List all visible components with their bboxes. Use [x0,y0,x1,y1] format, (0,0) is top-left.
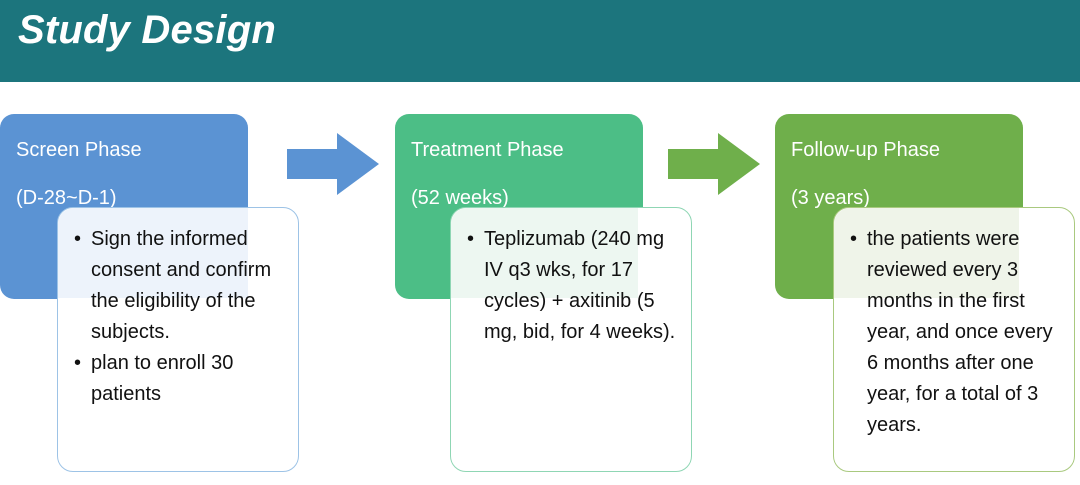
phase-title-screen: Screen Phase [16,136,248,164]
list-item: Sign the informed consent and confirm th… [72,224,284,348]
page-title: Study Design [18,4,276,56]
list-item: plan to enroll 30 patients [72,348,284,410]
bullet-list-followup: the patients were reviewed every 3 month… [848,224,1060,441]
callout-card-followup: the patients were reviewed every 3 month… [833,207,1075,472]
callout-card-screen: Sign the informed consent and confirm th… [57,207,299,472]
list-item: Teplizumab (240 mg IV q3 wks, for 17 cyc… [465,224,677,348]
bullet-list-screen: Sign the informed consent and confirm th… [72,224,284,410]
phase-title-followup: Follow-up Phase [791,136,1023,164]
arrow-right-icon-treatment-to-followup [668,133,760,195]
arrow-right-icon-screen-to-treatment [287,133,379,195]
header-banner: Study Design [0,0,1080,82]
list-item: the patients were reviewed every 3 month… [848,224,1060,441]
phase-title-treatment: Treatment Phase [411,136,643,164]
bullet-list-treatment: Teplizumab (240 mg IV q3 wks, for 17 cyc… [465,224,677,348]
callout-card-treatment: Teplizumab (240 mg IV q3 wks, for 17 cyc… [450,207,692,472]
study-design-slide: Study Design Screen Phase (D-28~D-1) Tre… [0,0,1080,485]
